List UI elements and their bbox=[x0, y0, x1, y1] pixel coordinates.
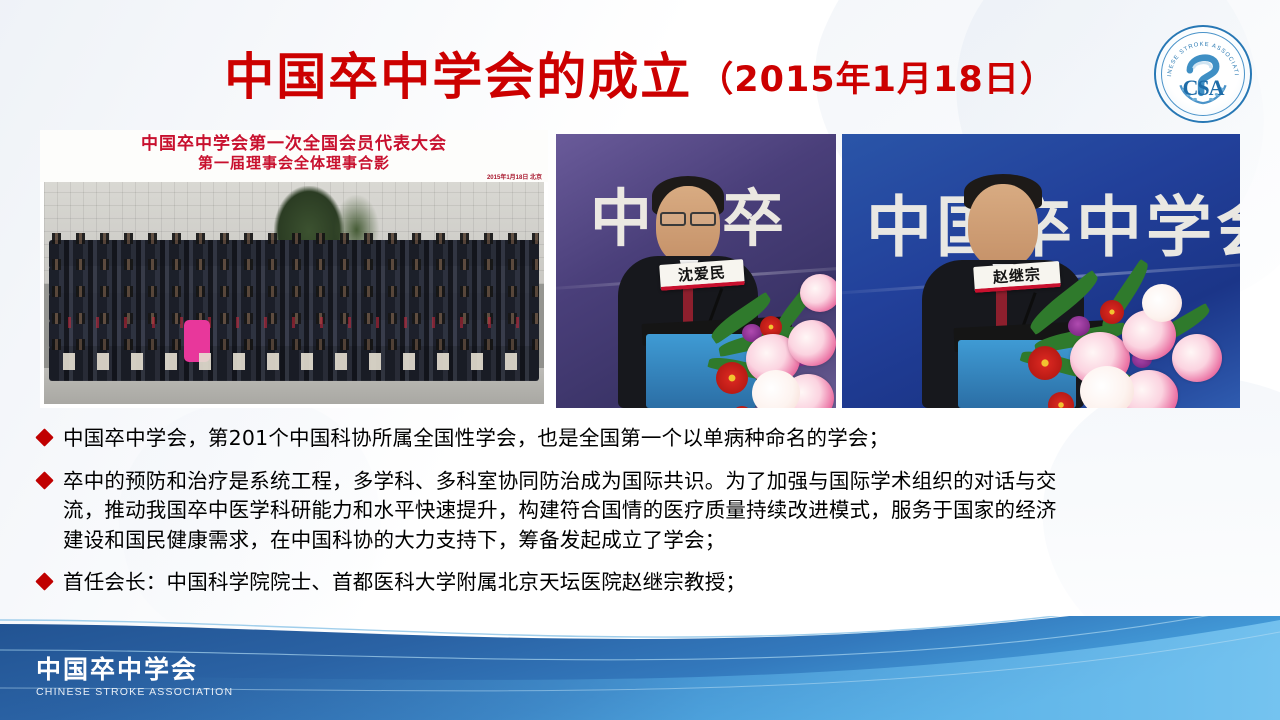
footer-brand: 中国卒中学会 CHINESE STROKE ASSOCIATION bbox=[36, 656, 233, 699]
bullet-line: 建设和国民健康需求，在中国科协的大力支持下，筹备发起成立了学会； bbox=[63, 526, 1057, 556]
group-photo-banner: 中国卒中学会第一次全国会员代表大会 第一届理事会全体理事合影 2015年1月18… bbox=[40, 130, 548, 182]
red-gerbera bbox=[1100, 300, 1124, 324]
csa-logo: CHINESE STROKE ASSOCIATION CSA bbox=[1154, 25, 1252, 123]
delegate-badges bbox=[54, 317, 534, 328]
crowd-rows bbox=[44, 240, 544, 373]
slide-root: 中国卒中学会的成立 （2015年1月18日） CHINE bbox=[0, 0, 1280, 720]
bullet-line: 流，推动我国卒中医学科研能力和水平快速提升，构建符合国情的医疗质量持续改进模式，… bbox=[63, 496, 1057, 526]
svg-text:CHINESE STROKE ASSOCIATION: CHINESE STROKE ASSOCIATION bbox=[1156, 27, 1239, 77]
diamond-bullet-icon bbox=[35, 471, 53, 489]
bullet-text: 首任会长：中国科学院院士、首都医科大学附属北京天坛医院赵继宗教授； bbox=[63, 568, 746, 598]
white-lily bbox=[1080, 366, 1134, 408]
photo-speaker-zhao-jizong: 中国卒中学会 赵继宗 bbox=[842, 134, 1240, 408]
white-lily bbox=[752, 370, 800, 408]
speaker-nameplate-text: 赵继宗 bbox=[992, 263, 1041, 287]
logo-arc-text: CHINESE STROKE ASSOCIATION bbox=[1156, 27, 1239, 77]
slide-title: 中国卒中学会的成立 （2015年1月18日） bbox=[0, 38, 1280, 116]
photo-group-conference: 中国卒中学会第一次全国会员代表大会 第一届理事会全体理事合影 2015年1月18… bbox=[40, 130, 548, 408]
pink-lily bbox=[788, 320, 836, 366]
logo-artwork-icon: CHINESE STROKE ASSOCIATION bbox=[1156, 27, 1250, 121]
slide-footer: 中国卒中学会 CHINESE STROKE ASSOCIATION bbox=[0, 616, 1280, 720]
speaker-head bbox=[968, 184, 1038, 268]
diamond-bullet-icon bbox=[35, 573, 53, 591]
title-main-text: 中国卒中学会的成立 bbox=[224, 52, 692, 102]
bullet-line: 卒中的预防和治疗是系统工程，多学科、多科室协同防治成为国际共识。为了加强与国际学… bbox=[63, 467, 1057, 497]
bullet-item: 中国卒中学会，第201个中国科协所属全国性学会，也是全国第一个以单病种命名的学会… bbox=[34, 424, 1256, 454]
glasses-icon bbox=[690, 212, 716, 226]
photo-speaker-shen-aimin: 中国卒 沈爱民 bbox=[556, 134, 836, 408]
red-gerbera bbox=[1028, 346, 1062, 380]
pink-lily bbox=[1172, 334, 1222, 382]
title-date-text: （2015年1月18日） bbox=[698, 63, 1055, 98]
bullet-item: 首任会长：中国科学院院士、首都医科大学附属北京天坛医院赵继宗教授； bbox=[34, 568, 1256, 598]
bullet-item: 卒中的预防和治疗是系统工程，多学科、多科室协同防治成为国际共识。为了加强与国际学… bbox=[34, 467, 1256, 556]
diamond-bullet-icon bbox=[35, 428, 53, 446]
bullet-text: 卒中的预防和治疗是系统工程，多学科、多科室协同防治成为国际共识。为了加强与国际学… bbox=[63, 467, 1057, 556]
bullet-list: 中国卒中学会，第201个中国科协所属全国性学会，也是全国第一个以单病种命名的学会… bbox=[34, 424, 1256, 611]
glasses-icon bbox=[660, 212, 686, 226]
bullet-text: 中国卒中学会，第201个中国科协所属全国性学会，也是全国第一个以单病种命名的学会… bbox=[63, 424, 889, 454]
bullet-line: 中国卒中学会，第201个中国科协所属全国性学会，也是全国第一个以单病种命名的学会… bbox=[63, 424, 889, 454]
pink-lily bbox=[800, 274, 836, 312]
front-row-chairs bbox=[49, 353, 539, 370]
backdrop-text: 中国卒中学会 bbox=[866, 174, 1240, 270]
white-lily bbox=[1142, 284, 1182, 322]
footer-brand-en: CHINESE STROKE ASSOCIATION bbox=[36, 686, 233, 698]
group-photo-caption-line1: 中国卒中学会第一次全国会员代表大会 bbox=[40, 133, 548, 155]
red-gerbera bbox=[716, 362, 748, 394]
speaker-nameplate-text: 沈爱民 bbox=[677, 261, 726, 285]
logo-monogram: CSA bbox=[1156, 77, 1250, 99]
group-photo-caption-line2: 第一届理事会全体理事合影 bbox=[40, 155, 548, 174]
group-photo-image bbox=[44, 182, 544, 404]
group-photo-date: 2015年1月18日 北京 bbox=[487, 172, 542, 181]
purple-flower bbox=[1068, 316, 1090, 336]
bullet-line: 首任会长：中国科学院院士、首都医科大学附属北京天坛医院赵继宗教授； bbox=[63, 568, 746, 598]
footer-brand-cn: 中国卒中学会 bbox=[36, 656, 233, 684]
